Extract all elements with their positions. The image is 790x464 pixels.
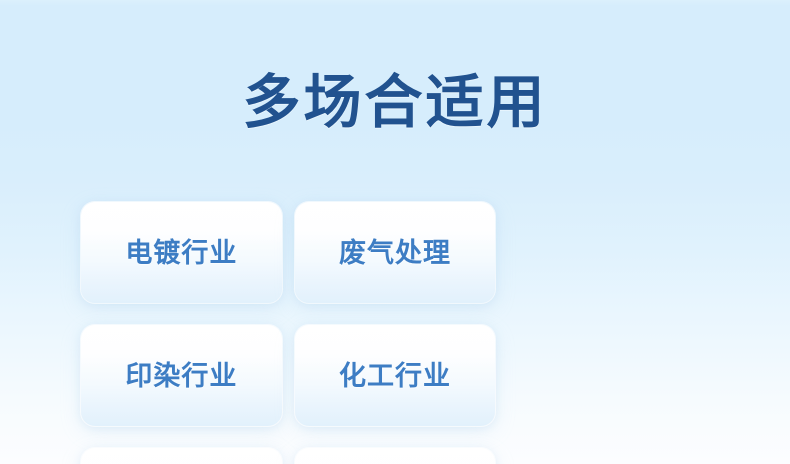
scenario-card-label: 化工行业 xyxy=(339,360,451,392)
scenario-card-chemical[interactable]: 化工行业 xyxy=(295,325,496,426)
promo-banner: 多场合适用 电镀行业 废气处理 印染行业 化工行业 食品/制药行业 污水/环保/… xyxy=(0,0,790,464)
scenario-card-label: 印染行业 xyxy=(125,360,237,392)
scenario-card-label: 电镀行业 xyxy=(125,237,237,269)
scenario-card-label: 废气处理 xyxy=(339,237,451,269)
page-title: 多场合适用 xyxy=(242,70,547,136)
scenario-card-electroplating[interactable]: 电镀行业 xyxy=(81,202,282,303)
application-scenario-grid: 电镀行业 废气处理 印染行业 化工行业 食品/制药行业 污水/环保/水处理 xyxy=(81,202,709,464)
scenario-card-sewage-environment-water[interactable]: 污水/环保/水处理 xyxy=(295,448,496,464)
scenario-card-printing-dyeing[interactable]: 印染行业 xyxy=(81,325,282,426)
scenario-card-food-pharma[interactable]: 食品/制药行业 xyxy=(81,448,282,464)
scenario-card-waste-gas[interactable]: 废气处理 xyxy=(295,202,496,303)
title-container: 多场合适用 xyxy=(0,70,790,136)
